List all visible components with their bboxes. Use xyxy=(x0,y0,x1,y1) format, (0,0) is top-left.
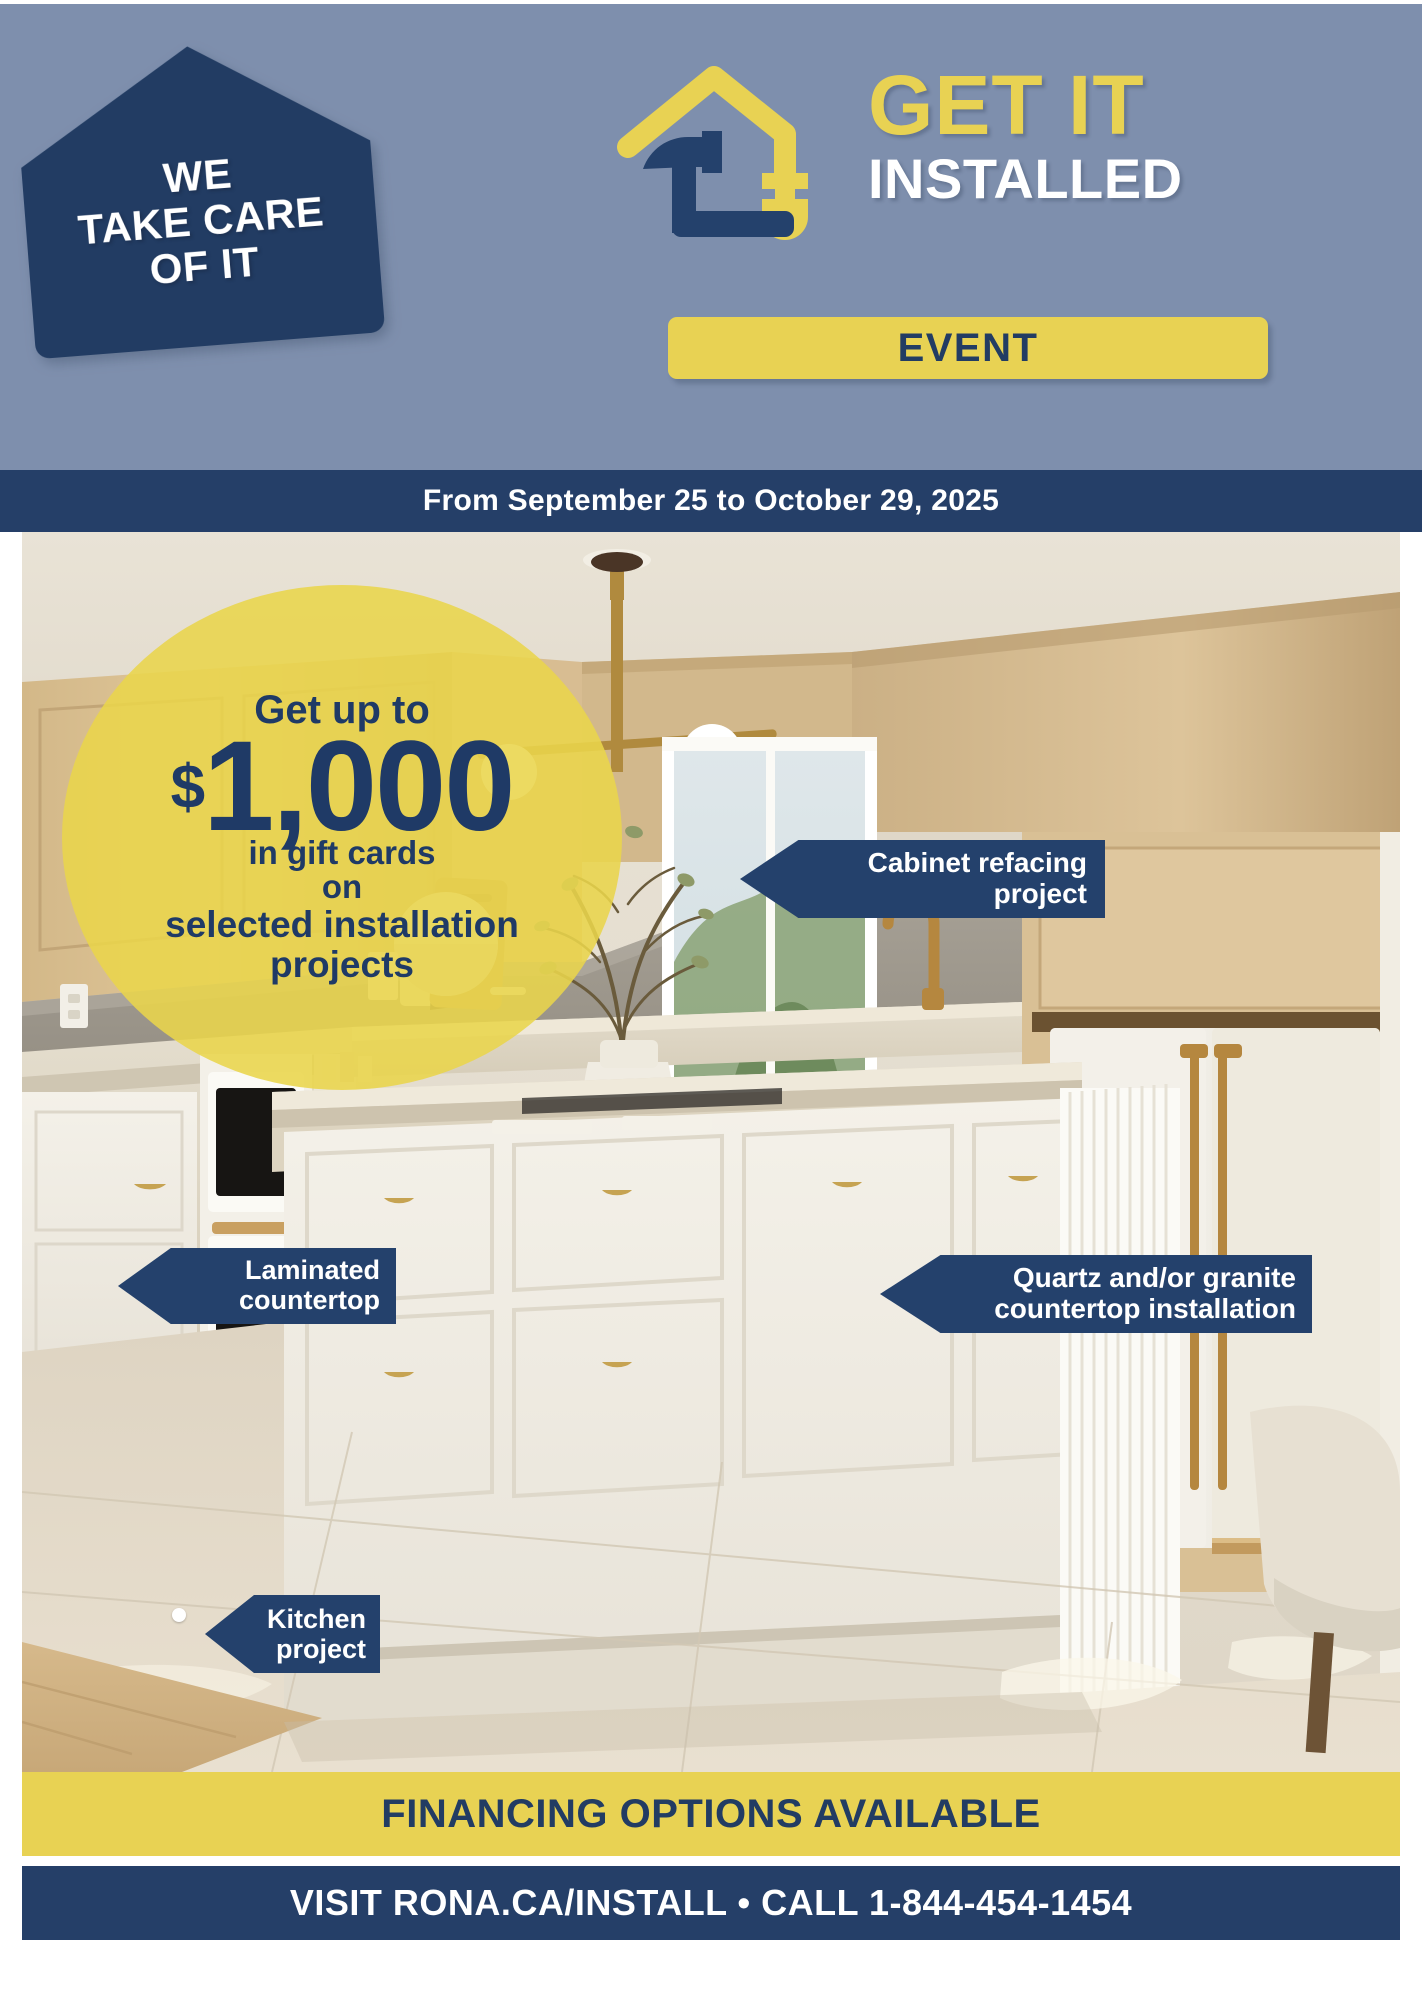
event-label: EVENT xyxy=(898,326,1039,371)
callout-cabinet-refacing: Cabinet refacing project xyxy=(740,840,1105,918)
callout-line-2: countertop xyxy=(198,1286,380,1316)
header-banner: WE TAKE CARE OF IT xyxy=(0,0,1422,470)
offer-amount: $1,000 xyxy=(171,728,514,846)
financing-text: FINANCING OPTIONS AVAILABLE xyxy=(381,1792,1040,1837)
financing-banner: FINANCING OPTIONS AVAILABLE xyxy=(22,1772,1400,1856)
offer-sub-line-4: projects xyxy=(270,945,414,985)
callout-line-1: Laminated xyxy=(198,1256,380,1286)
date-range-text: From September 25 to October 29, 2025 xyxy=(423,484,999,518)
callout-laminated-countertop: Laminated countertop xyxy=(118,1248,396,1324)
amount-value: 1,000 xyxy=(203,715,513,858)
house-hammer-wrench-icon xyxy=(610,61,825,256)
callout-line-2: project xyxy=(261,1634,366,1664)
callout-line-2: project xyxy=(830,879,1087,910)
we-take-care-badge: WE TAKE CARE OF IT xyxy=(13,33,385,360)
offer-sub-line-3: selected installation xyxy=(165,905,519,945)
flyer-page: WE TAKE CARE OF IT xyxy=(0,0,1422,2000)
callout-line-2: countertop installation xyxy=(970,1294,1296,1325)
callout-line-1: Kitchen xyxy=(261,1604,366,1634)
callout-quartz-granite: Quartz and/or granite countertop install… xyxy=(880,1255,1312,1333)
offer-badge: Get up to $1,000 in gift cards on select… xyxy=(62,585,622,1090)
logo-get-it: GET IT xyxy=(868,65,1228,146)
callout-line-1: Quartz and/or granite xyxy=(970,1263,1296,1294)
date-banner: From September 25 to October 29, 2025 xyxy=(0,470,1422,532)
we-take-care-text: WE TAKE CARE OF IT xyxy=(21,140,380,302)
offer-sub-line-2: on xyxy=(322,870,362,905)
event-badge: EVENT xyxy=(668,317,1268,379)
callout-line-1: Cabinet refacing xyxy=(830,848,1087,879)
contact-text: VISIT RONA.CA/INSTALL • CALL 1-844-454-1… xyxy=(290,1882,1132,1924)
contact-banner: VISIT RONA.CA/INSTALL • CALL 1-844-454-1… xyxy=(22,1866,1400,1940)
kitchen-marker-dot xyxy=(172,1608,186,1622)
logo-installed: INSTALLED xyxy=(868,150,1228,209)
get-it-installed-logo: GET IT INSTALLED xyxy=(610,59,1230,319)
logo-wordmark: GET IT INSTALLED xyxy=(868,65,1228,208)
currency-symbol: $ xyxy=(171,753,203,822)
